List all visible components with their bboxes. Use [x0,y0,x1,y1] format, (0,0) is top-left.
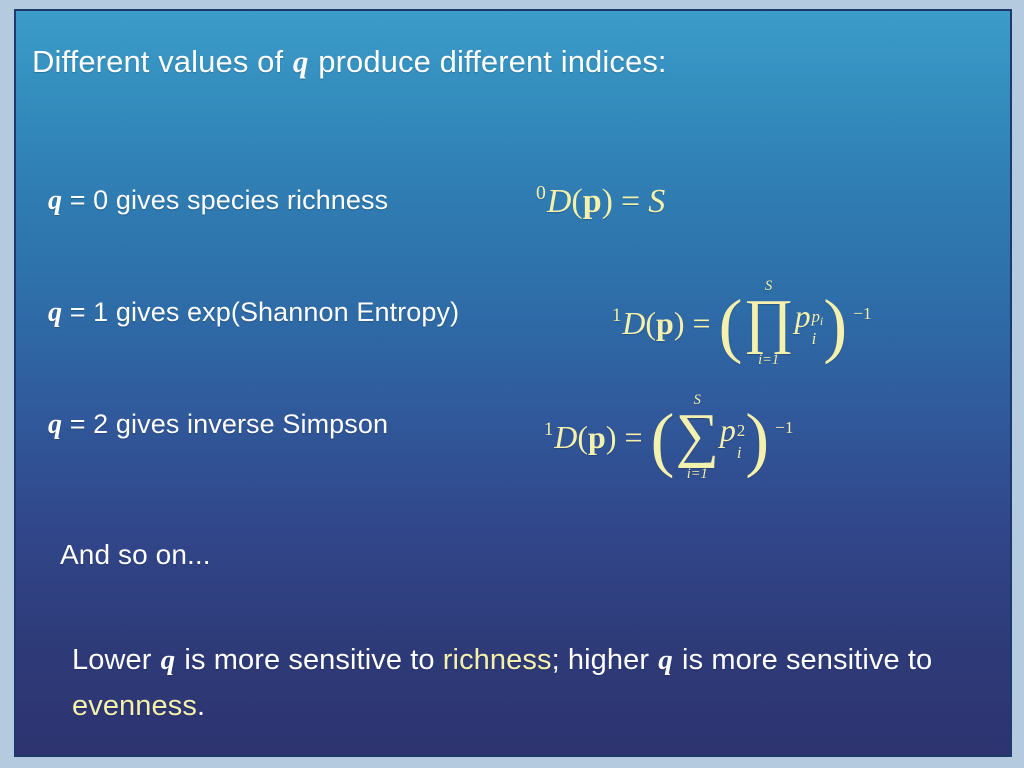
closing-part5: . [197,690,205,722]
equation-q2-term-subscript: i [737,445,745,462]
slide-title-before: Different values of [32,44,292,79]
equation-q2-term: p 2 i [720,412,745,462]
row-q2: q = 2 gives inverse Simpson [48,409,388,440]
and-so-on-text: And so on... [60,539,211,571]
equation-q2-rparen: ) [606,419,617,456]
equation-q1-term-superscript: pi [812,309,824,326]
equation-q2-term-superscript: 2 [737,423,745,440]
equation-q2-big-lparen: ( [651,418,675,461]
equation-q0-presuperscript: 0 [536,182,546,205]
slide-title-after: produce different indices: [310,44,667,79]
equation-q2-limit-bottom: i=1 [687,467,708,481]
equation-q2-equals: = [625,419,643,456]
closing-variable-q-1: q [160,644,177,676]
row-q1: q = 1 gives exp(Shannon Entropy) [48,297,459,328]
equation-q1-rparen: ) [674,305,685,342]
closing-highlight-richness: richness [443,644,552,676]
row-q2-label: q = 2 gives inverse Simpson [48,409,388,440]
equation-q2-lparen: ( [577,419,588,456]
row-q1-label: q = 1 gives exp(Shannon Entropy) [48,297,459,328]
equation-q1-outer-exponent: −1 [853,304,871,324]
equation-q1-equals: = [693,305,711,342]
equation-q1-vector-p: p [656,305,674,342]
equation-q1-big-lparen: ( [719,304,743,347]
equation-q0: 0D(p) = S [536,183,665,221]
closing-highlight-evenness: evenness [72,690,197,722]
row-q0: q = 0 gives species richness [48,185,388,216]
equation-q2-presuperscript: 1 [544,419,553,441]
equation-q1-D: D [622,305,645,342]
equation-q0-rparen: ) [602,183,613,221]
row-q1-variable-q: q [48,297,62,328]
closing-part2: is more sensitive to [176,644,443,676]
equation-q0-D: D [547,183,572,221]
equation-q2-vector-p: p [588,419,606,456]
slide-title-variable-q: q [292,44,310,79]
equation-q2: 1D(p) = ( S ∑ i=1 p 2 i ) −1 [544,393,794,482]
slide: Different values of q produce different … [0,0,1024,768]
closing-part4: is more sensitive to [674,644,932,676]
row-q2-variable-q: q [48,409,62,440]
equation-q0-equals: = [621,183,640,221]
equation-q1-term-sup-base: p [812,307,820,326]
equation-q1-term: p pi i [795,298,824,348]
equation-q1-lparen: ( [645,305,656,342]
row-q2-text: = 2 gives inverse Simpson [62,409,388,439]
closing-part1: Lower [72,644,160,676]
equation-q2-D: D [554,419,577,456]
equation-q2-term-base: p [720,412,736,449]
row-q1-text: = 1 gives exp(Shannon Entropy) [62,297,459,327]
row-q0-variable-q: q [48,185,62,216]
slide-content-area: Different values of q produce different … [14,9,1012,757]
equation-q1-big-rparen: ) [823,304,847,347]
equation-q1-presuperscript: 1 [612,305,621,327]
closing-variable-q-2: q [657,644,674,676]
equation-q0-lparen: ( [571,183,582,221]
row-q0-text: = 0 gives species richness [62,185,388,215]
product-operator: S ∏ i=1 [744,279,794,368]
equation-q1-term-subscript: i [812,331,824,348]
equation-q0-rhs-S: S [648,183,665,221]
equation-q1-term-base: p [795,298,811,335]
equation-q0-vector-p: p [583,183,602,221]
row-q0-label: q = 0 gives species richness [48,185,388,216]
product-operator-glyph: ∏ [744,292,794,353]
slide-title: Different values of q produce different … [32,45,667,79]
equation-q2-outer-exponent: −1 [775,418,793,438]
summation-operator-glyph: ∑ [676,406,719,467]
equation-q1-limit-bottom: i=1 [758,353,779,367]
equation-q1: 1D(p) = ( S ∏ i=1 p pi i ) −1 [612,279,872,368]
closing-part3: ; higher [552,644,658,676]
equation-q2-big-rparen: ) [745,418,769,461]
summation-operator: S ∑ i=1 [676,393,719,482]
closing-statement: Lower q is more sensitive to richness; h… [72,637,982,729]
